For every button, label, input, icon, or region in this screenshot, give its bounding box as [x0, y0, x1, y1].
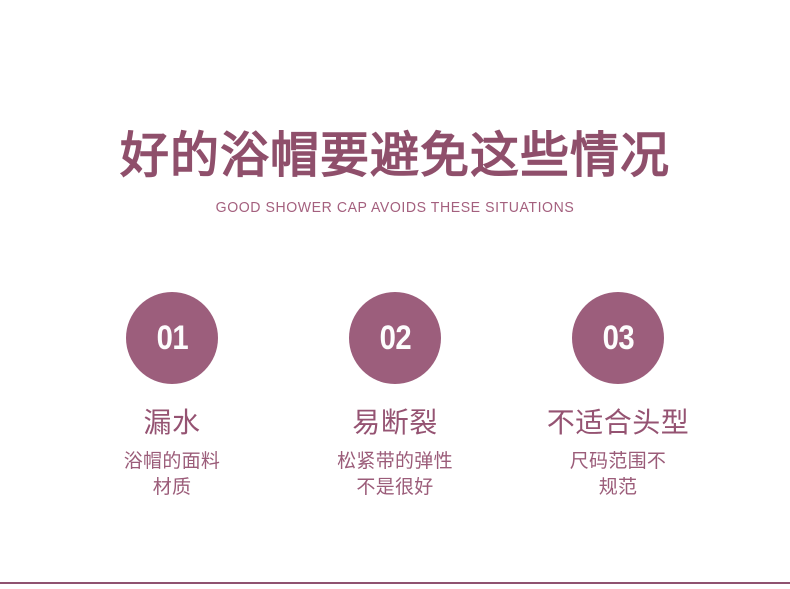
feature-column-03: 03 不适合头型 尺码范围不 规范	[507, 292, 730, 501]
feature-heading-02: 易断裂	[352, 384, 438, 440]
feature-columns: 01 漏水 浴帽的面料 材质 02 易断裂 松紧带的弹性 不是很好 03 不适合…	[0, 292, 790, 501]
description-line-2: 材质	[153, 477, 192, 498]
description-line-1: 尺码范围不	[570, 451, 667, 472]
number-badge-02: 02	[349, 292, 441, 384]
feature-description-01: 浴帽的面料 材质	[87, 440, 257, 501]
badge-number-label: 02	[379, 321, 411, 355]
bottom-divider	[0, 582, 790, 584]
feature-heading-03: 不适合头型	[547, 384, 690, 440]
description-line-1: 浴帽的面料	[124, 451, 221, 472]
feature-description-03: 尺码范围不 规范	[533, 440, 703, 501]
description-line-2: 规范	[599, 477, 638, 498]
description-line-1: 松紧带的弹性	[337, 451, 453, 472]
badge-number-label: 03	[602, 321, 634, 355]
description-line-2: 不是很好	[356, 477, 433, 498]
badge-number-label: 01	[156, 321, 188, 355]
page-subtitle: GOOD SHOWER CAP AVOIDS THESE SITUATIONS	[24, 186, 767, 217]
promo-panel: 好的浴帽要避免这些情况 GOOD SHOWER CAP AVOIDS THESE…	[0, 0, 790, 589]
feature-column-01: 01 漏水 浴帽的面料 材质	[61, 292, 284, 501]
header-block: 好的浴帽要避免这些情况 GOOD SHOWER CAP AVOIDS THESE…	[0, 126, 790, 217]
feature-heading-01: 漏水	[143, 384, 200, 440]
page-title: 好的浴帽要避免这些情况	[0, 126, 790, 186]
number-badge-03: 03	[572, 292, 664, 384]
feature-column-02: 02 易断裂 松紧带的弹性 不是很好	[284, 292, 507, 501]
number-badge-01: 01	[126, 292, 218, 384]
feature-description-02: 松紧带的弹性 不是很好	[310, 440, 480, 501]
